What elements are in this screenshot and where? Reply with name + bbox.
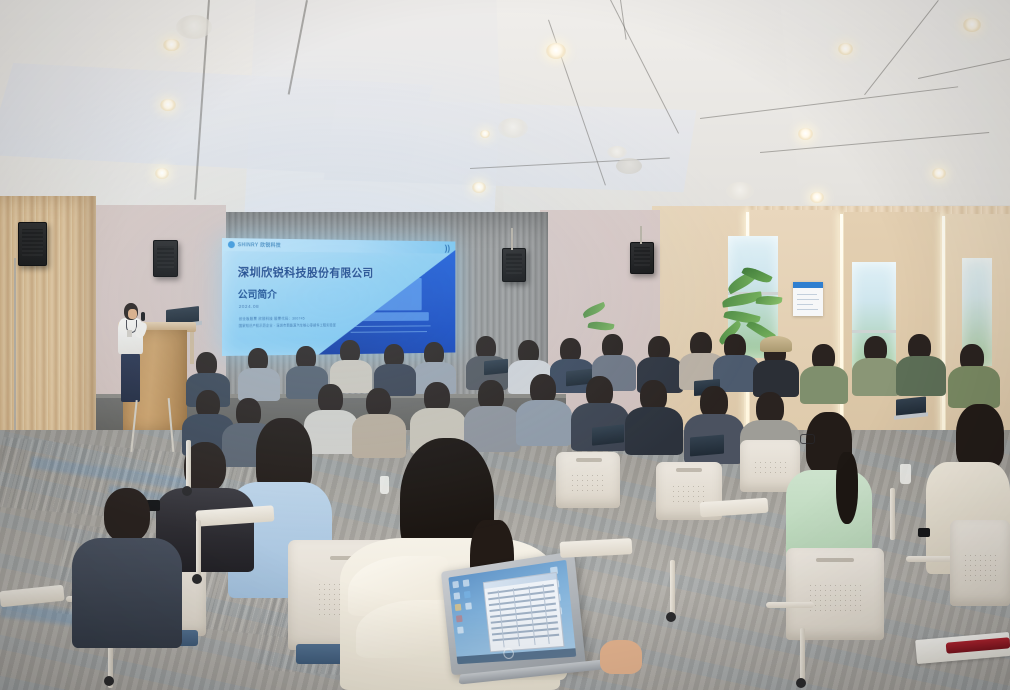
chair-castor (104, 676, 114, 686)
chair-castor (666, 612, 676, 622)
slide-footnote-2: 国家知识产权示范企业 · 深圳市新能源汽车核心零部件工程实验室 (239, 322, 336, 328)
attendee-laptop (484, 359, 508, 376)
slide-title: 深圳欣锐科技股份有限公司 (238, 264, 374, 281)
chair-leg (670, 560, 675, 620)
company-logo-text: SHINRY 欣锐科技 (238, 241, 281, 249)
conference-room-photo: SHINRY 欣锐科技 )) 深圳欣锐科技股份有限公司 公司简介 2024.08… (0, 0, 1010, 690)
foreground-laptop[interactable] (434, 551, 622, 690)
laptop-lid (441, 551, 586, 675)
wall-speaker-center-left (153, 240, 178, 277)
attendee-laptop (690, 435, 724, 457)
chair-leg (890, 488, 895, 540)
chair-leg (800, 628, 805, 684)
attendee-laptop (592, 424, 624, 445)
window-mullion (852, 330, 896, 333)
hand (600, 640, 642, 674)
speaker-cable (640, 226, 642, 244)
speaker-cable (511, 228, 513, 250)
microphone (141, 312, 145, 321)
projection-screen: SHINRY 欣锐科技 )) 深圳欣锐科技股份有限公司 公司简介 2024.08… (222, 238, 455, 356)
slide-corner-mark: )) (445, 243, 450, 252)
chair-handle (676, 468, 702, 472)
chair-castor (192, 574, 202, 584)
chair-handle (576, 458, 602, 462)
water-bottle (900, 464, 911, 484)
chair-castor (182, 486, 192, 496)
company-logo-icon (228, 241, 235, 248)
chair-handle (816, 558, 854, 562)
podium-leg (190, 330, 194, 364)
presenter-face (128, 309, 137, 319)
slide-date: 2024.08 (239, 304, 259, 309)
chair-castor (796, 678, 806, 688)
spreadsheet-window[interactable] (483, 572, 565, 653)
presenter-badge (127, 330, 132, 337)
water-bottle (380, 476, 389, 494)
laptop-screen[interactable] (448, 560, 576, 664)
chair-arm (766, 602, 814, 608)
chair-back (950, 520, 1010, 606)
wall-speaker-center-right (502, 248, 526, 282)
slide-footnote-1: 创业板股票 欣锐科技 股票代码：300745 (239, 316, 305, 321)
wall-speaker-left (18, 222, 47, 266)
led-strip (942, 216, 945, 466)
presenter-legs (121, 352, 140, 402)
taskbar[interactable] (457, 648, 577, 664)
wall-speaker-right (630, 242, 654, 274)
slide-subtitle: 公司简介 (238, 286, 277, 301)
